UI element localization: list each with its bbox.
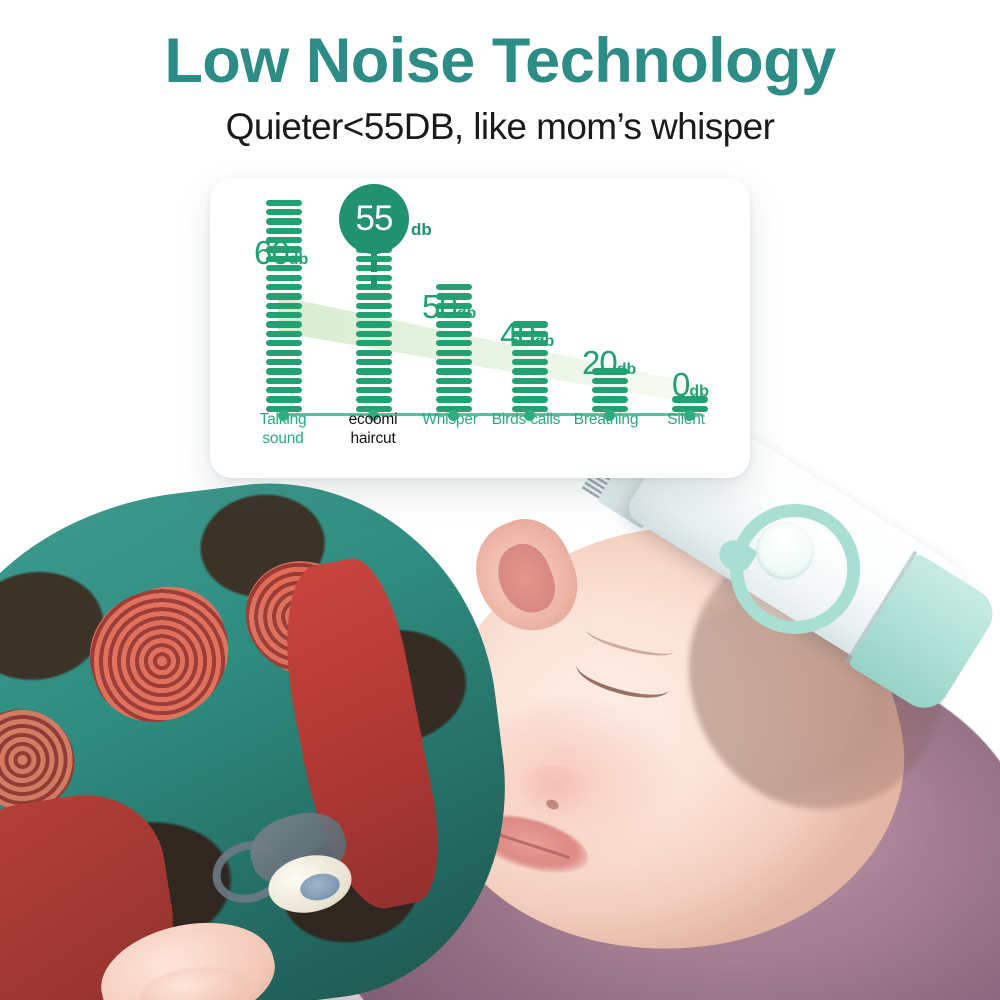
category-label-silent: Silent [648, 410, 724, 429]
bar-segment [266, 378, 302, 384]
value-label-talking-sound: 60db [254, 236, 308, 276]
bar-segment [436, 378, 472, 384]
bar-segment [266, 368, 302, 374]
value-label-whisper: 50db [422, 290, 476, 330]
bar-segment [266, 312, 302, 318]
category-label-breathing: Breathing [554, 410, 658, 429]
bar-segment [356, 340, 392, 346]
bar-segment [436, 368, 472, 374]
bar-segment [436, 340, 472, 346]
bar-segment [266, 396, 302, 402]
value-number: 0 [672, 366, 689, 403]
bar-segment [356, 321, 392, 327]
noise-comparison-card: 60db 50db 40db 20db 0db 55 db [210, 178, 750, 478]
category-label-ecoomi-haircut: ecoomi haircut [328, 410, 418, 448]
bar-segment [266, 200, 302, 206]
bar-segment [436, 359, 472, 365]
page-title: Low Noise Technology [0, 24, 1000, 98]
bar-segment [436, 396, 472, 402]
value-label-breathing: 20db [582, 346, 636, 386]
value-unit: db [535, 333, 555, 350]
value-unit: db [689, 383, 709, 400]
bar-segment [592, 387, 628, 393]
category-label-whisper: Whisper [406, 410, 494, 429]
value-number: 40 [500, 316, 535, 353]
bar-segment [266, 303, 302, 309]
bar-segment [356, 303, 392, 309]
bar-segment [512, 368, 548, 374]
value-unit: db [289, 251, 309, 268]
bar-segment [266, 340, 302, 346]
bar-segment [266, 350, 302, 356]
highlight-badge-55db: 55 [339, 184, 409, 254]
bar-segment [266, 359, 302, 365]
value-number: 50 [422, 288, 457, 325]
bar-segment [512, 359, 548, 365]
page-subtitle: Quieter<55DB, like mom’s whisper [0, 104, 1000, 150]
bar-segment [436, 350, 472, 356]
badge-unit: db [411, 220, 432, 240]
bar-segment [266, 321, 302, 327]
bar-segment [266, 209, 302, 215]
noise-level-chart: 60db 50db 40db 20db 0db 55 db [210, 178, 750, 478]
bar-segment [356, 368, 392, 374]
value-label-birds-calls: 40db [500, 318, 554, 358]
bar-segment [512, 387, 548, 393]
value-unit: db [457, 305, 477, 322]
bar-segment [512, 378, 548, 384]
bar-segment [356, 378, 392, 384]
category-label-birds-calls: Birds calls [488, 410, 564, 429]
value-label-silent: 0db [672, 368, 709, 408]
bar-segment [266, 331, 302, 337]
infographic-page: Low Noise Technology Quieter<55DB, like … [0, 0, 1000, 1000]
bar-segment [356, 396, 392, 402]
value-number: 60 [254, 234, 289, 271]
bar-talking-sound [266, 200, 302, 412]
bar-segment [592, 396, 628, 402]
value-unit: db [617, 361, 637, 378]
bar-segment [356, 331, 392, 337]
bar-segment [356, 350, 392, 356]
bar-segment [266, 387, 302, 393]
badge-value: 55 [356, 199, 393, 239]
bar-segment [266, 228, 302, 234]
bar-segment [266, 218, 302, 224]
bar-segment [512, 396, 548, 402]
bar-segment [266, 284, 302, 290]
category-label-talking-sound: Talking sound [238, 410, 328, 448]
bar-segment [266, 293, 302, 299]
bar-segment [436, 387, 472, 393]
bar-segment [436, 331, 472, 337]
bar-segment [356, 312, 392, 318]
bar-segment [356, 387, 392, 393]
bar-segment [356, 293, 392, 299]
bar-segment [356, 359, 392, 365]
value-number: 20 [582, 344, 617, 381]
